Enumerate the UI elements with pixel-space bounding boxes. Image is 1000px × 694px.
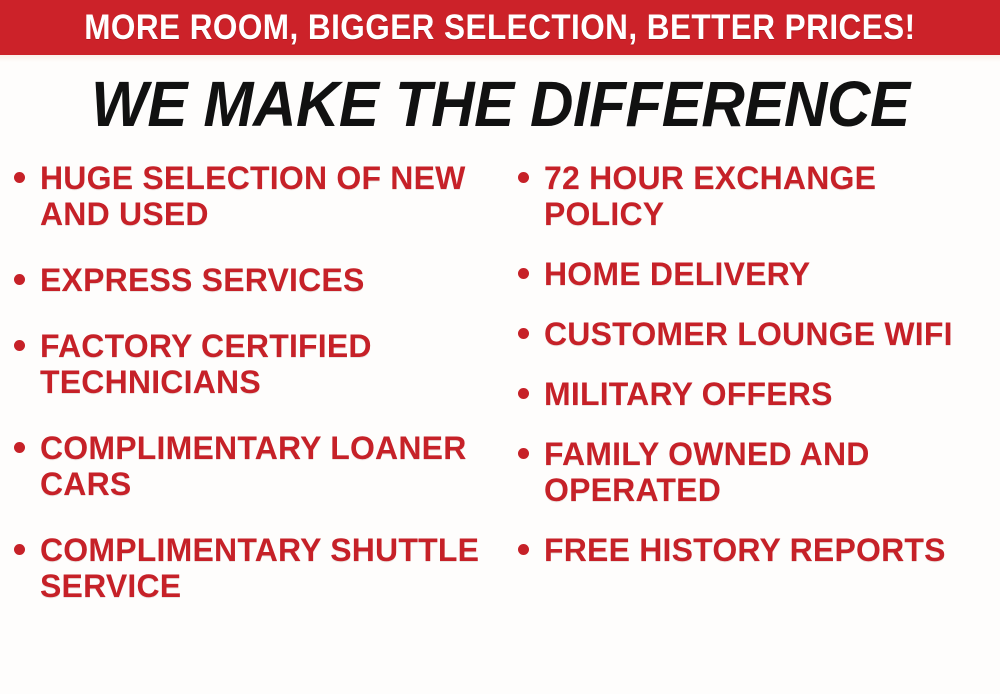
list-item: FREE HISTORY REPORTS	[518, 532, 1000, 568]
bullet-dot-icon	[14, 274, 25, 285]
promo-banner-text: MORE ROOM, BIGGER SELECTION, BETTER PRIC…	[84, 10, 915, 46]
list-item: EXPRESS SERVICES	[14, 262, 504, 298]
list-item: HOME DELIVERY	[518, 256, 1000, 292]
list-item-label: FACTORY CERTIFIED TECHNICIANS	[40, 328, 504, 400]
list-item-label: MILITARY OFFERS	[544, 376, 1000, 412]
benefits-column-right: 72 HOUR EXCHANGE POLICY HOME DELIVERY CU…	[518, 160, 1000, 592]
bullet-dot-icon	[518, 544, 529, 555]
page-headline-text: WE MAKE THE DIFFERENCE	[91, 72, 910, 136]
list-item-label: HUGE SELECTION OF NEW AND USED	[40, 160, 504, 232]
list-item-label: FAMILY OWNED AND OPERATED	[544, 436, 1000, 508]
page-headline: WE MAKE THE DIFFERENCE	[0, 72, 1000, 136]
list-item: COMPLIMENTARY SHUTTLE SERVICE	[14, 532, 504, 604]
list-item: FAMILY OWNED AND OPERATED	[518, 436, 1000, 508]
bullet-dot-icon	[518, 448, 529, 459]
bullet-dot-icon	[518, 328, 529, 339]
bullet-dot-icon	[518, 388, 529, 399]
list-item-label: EXPRESS SERVICES	[40, 262, 504, 298]
bullet-dot-icon	[518, 268, 529, 279]
bullet-dot-icon	[14, 172, 25, 183]
list-item: CUSTOMER LOUNGE WIFI	[518, 316, 1000, 352]
list-item: 72 HOUR EXCHANGE POLICY	[518, 160, 1000, 232]
bullet-dot-icon	[14, 340, 25, 351]
list-item-label: CUSTOMER LOUNGE WIFI	[544, 316, 1000, 352]
list-item-label: COMPLIMENTARY LOANER CARS	[40, 430, 504, 502]
list-item-label: 72 HOUR EXCHANGE POLICY	[544, 160, 1000, 232]
list-item-label: FREE HISTORY REPORTS	[544, 532, 1000, 568]
promo-banner: MORE ROOM, BIGGER SELECTION, BETTER PRIC…	[0, 0, 1000, 55]
list-item-label: COMPLIMENTARY SHUTTLE SERVICE	[40, 532, 504, 604]
list-item: HUGE SELECTION OF NEW AND USED	[14, 160, 504, 232]
bullet-dot-icon	[14, 544, 25, 555]
benefits-column-left: HUGE SELECTION OF NEW AND USED EXPRESS S…	[14, 160, 504, 634]
list-item: MILITARY OFFERS	[518, 376, 1000, 412]
bullet-dot-icon	[14, 442, 25, 453]
list-item-label: HOME DELIVERY	[544, 256, 1000, 292]
bullet-dot-icon	[518, 172, 529, 183]
banner-underglow-divider	[0, 55, 1000, 62]
list-item: FACTORY CERTIFIED TECHNICIANS	[14, 328, 504, 400]
benefits-columns: HUGE SELECTION OF NEW AND USED EXPRESS S…	[0, 160, 1000, 694]
list-item: COMPLIMENTARY LOANER CARS	[14, 430, 504, 502]
